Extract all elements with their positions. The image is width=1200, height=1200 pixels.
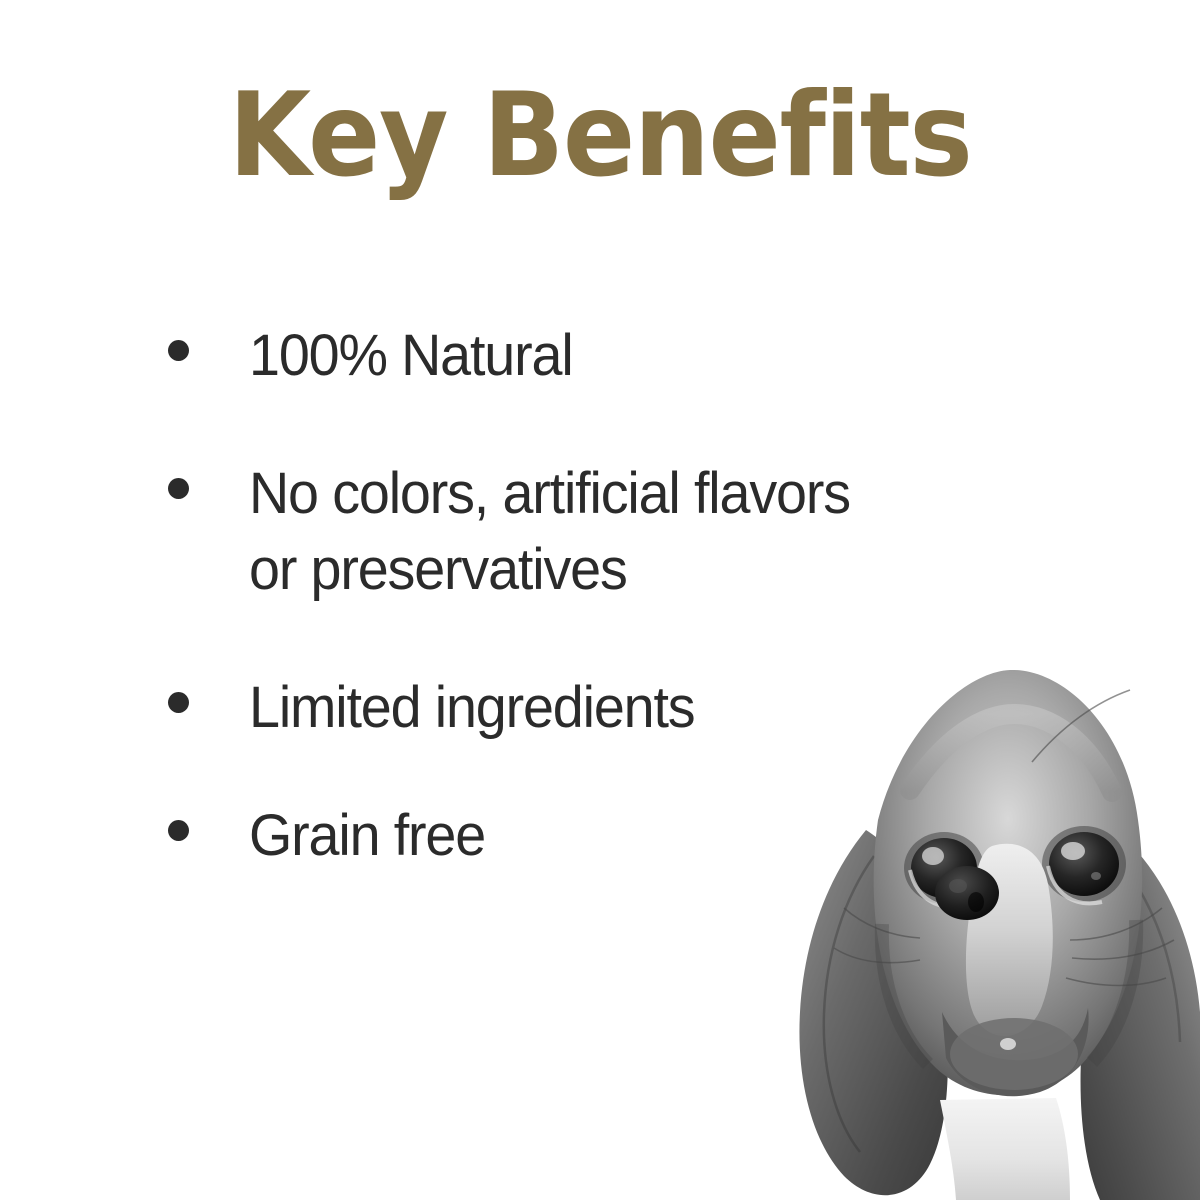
list-item: Grain free: [168, 798, 1028, 874]
dog-right-ear: [1081, 836, 1200, 1200]
bullet-icon: [168, 340, 189, 361]
dog-jaw: [942, 1008, 1089, 1096]
benefits-list: 100% Natural No colors, artificial flavo…: [168, 318, 1028, 936]
benefit-label: Grain free: [249, 798, 485, 874]
page-title: Key Benefits: [48, 78, 1152, 194]
bullet-icon: [168, 478, 189, 499]
bullet-icon: [168, 692, 189, 713]
list-item: Limited ingredients: [168, 670, 1028, 746]
benefit-label: 100% Natural: [249, 318, 573, 394]
benefit-label: Limited ingredients: [249, 670, 694, 746]
benefit-label: No colors, artificial flavors or preserv…: [249, 456, 850, 608]
dog-chest: [940, 1098, 1070, 1200]
dog-right-eye: [1042, 826, 1126, 903]
list-item: 100% Natural: [168, 318, 1028, 394]
bullet-icon: [168, 820, 189, 841]
key-benefits-panel: Key Benefits 100% Natural No colors, art…: [0, 0, 1200, 1200]
list-item: No colors, artificial flavors or preserv…: [168, 456, 1028, 608]
